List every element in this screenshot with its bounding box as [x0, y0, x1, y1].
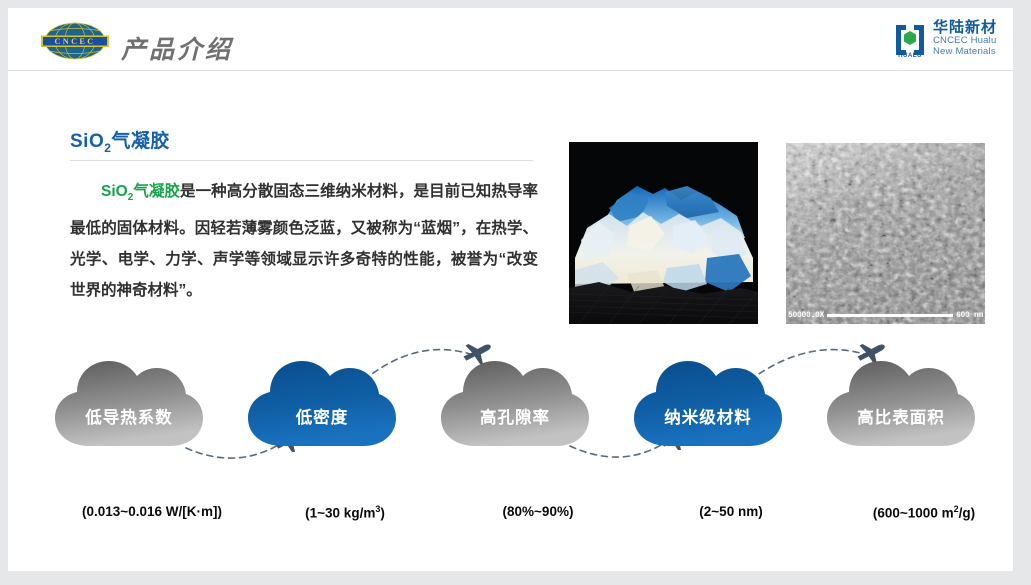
slide: CNCEC 产品介绍 HUALU 华陆新材 CNCEC Hualu New M: [8, 8, 1013, 571]
section-heading-pre: SiO: [70, 131, 104, 152]
header-divider: [8, 70, 1013, 71]
property-cloud-label-3: 高孔隙率: [438, 404, 592, 428]
property-cloud-value-3: (80%~90%): [438, 504, 638, 519]
property-cloud-row: 低导热系数 (0.013~0.016 W/[K·m]) 低密度 (1~30 kg…: [8, 328, 1013, 518]
property-cloud-value-4: (2~50 nm): [631, 504, 831, 519]
slide-header: CNCEC 产品介绍 HUALU 华陆新材 CNCEC Hualu New M: [8, 8, 1013, 70]
property-cloud-value-1: (0.013~0.016 W/[K·m]): [52, 504, 252, 519]
sem-magnification-label: 50000.0X: [788, 311, 824, 320]
paragraph-body: 是一种高分散固态三维纳米材料，是目前已知热导率最低的固体材料。因轻若薄雾颜色泛蓝…: [70, 183, 538, 299]
hualu-bracket-hexagon-icon: HUALU: [893, 22, 927, 58]
section-heading-post: 气凝胶: [111, 131, 170, 152]
cncec-globe-logo: CNCEC: [36, 22, 114, 60]
aerogel-sample-photo: [569, 142, 758, 324]
sem-scale-length-label: 600 nm: [956, 311, 983, 320]
svg-text:CNCEC: CNCEC: [54, 37, 95, 46]
property-cloud-value-5: (600~1000 m2/g): [824, 504, 1013, 521]
paragraph-keyword-post: 气凝胶: [133, 183, 180, 200]
aerogel-sem-micrograph: 50000.0X 600 nm: [786, 143, 985, 324]
cloud-shape-gray-2: [438, 356, 592, 450]
sem-scale-bar-line: [827, 314, 953, 317]
paragraph-keyword: SiO2气凝胶: [101, 183, 180, 200]
section-paragraph: SiO2气凝胶是一种高分散固态三维纳米材料，是目前已知热导率最低的固体材料。因轻…: [70, 176, 538, 306]
cloud-shape-gray-1: [52, 356, 206, 450]
cloud-shape-blue-2: [631, 356, 785, 450]
property-cloud-label-5: 高比表面积: [824, 404, 978, 428]
cloud-shape-blue-1: [245, 356, 399, 450]
property-cloud-label-4: 纳米级材料: [631, 404, 785, 428]
hualu-english-line2: New Materials: [933, 47, 997, 58]
section-heading: SiO2气凝胶: [70, 126, 170, 155]
hualu-chinese-name: 华陆新材: [933, 20, 997, 36]
hualu-wordmark: 华陆新材 CNCEC Hualu New Materials: [933, 20, 997, 57]
property-cloud-value-2: (1~30 kg/m3): [245, 504, 445, 521]
hualu-english-line1: CNCEC Hualu: [933, 36, 997, 47]
paragraph-keyword-pre: SiO: [101, 183, 128, 200]
sem-scale-bar: 50000.0X 600 nm: [786, 309, 985, 322]
svg-text:HUALU: HUALU: [898, 52, 922, 58]
cloud-shape-gray-3: [824, 356, 978, 450]
property-cloud-label-1: 低导热系数: [52, 404, 206, 428]
property-cloud-label-2: 低密度: [245, 404, 399, 428]
section-heading-divider: [70, 160, 533, 161]
cncec-hualu-new-materials-logo: HUALU 华陆新材 CNCEC Hualu New Materials: [893, 20, 1003, 60]
page-title: 产品介绍: [121, 30, 233, 66]
slide-viewport: CNCEC 产品介绍 HUALU 华陆新材 CNCEC Hualu New M: [0, 0, 1031, 585]
